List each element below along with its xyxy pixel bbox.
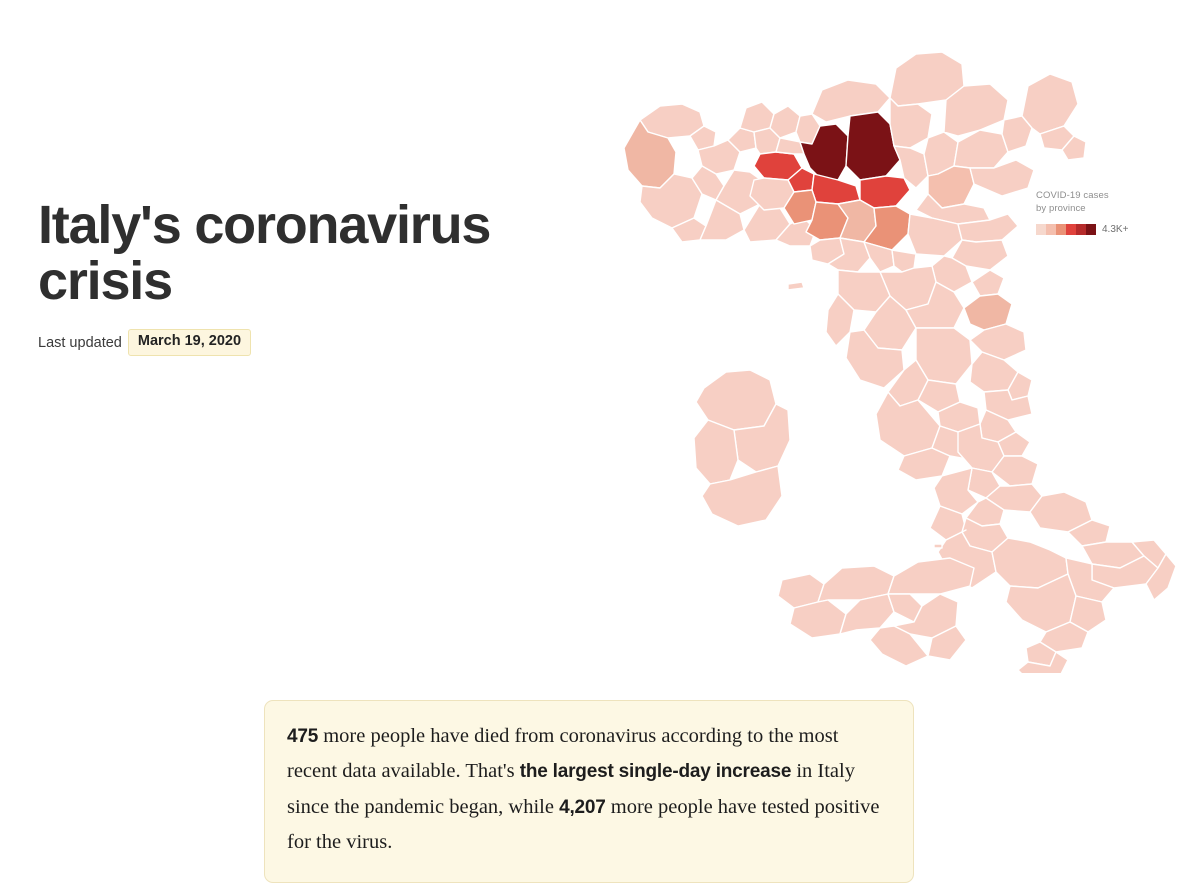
legend-swatch-1	[1036, 224, 1046, 235]
summary-callout-box: 475 more people have died from coronavir…	[264, 700, 914, 883]
last-updated-label: Last updated	[38, 335, 122, 351]
province-oristano[interactable]	[694, 420, 738, 484]
legend-max-label: 4.3K+	[1102, 224, 1128, 235]
last-updated-row: Last updated March 19, 2020	[38, 329, 558, 356]
legend-color-scale	[1036, 224, 1096, 235]
italy-map[interactable]	[598, 28, 1179, 673]
province-messina[interactable]	[888, 558, 974, 594]
deaths-count: 475	[287, 726, 318, 747]
province-como[interactable]	[770, 106, 800, 138]
legend-title-line2: by province	[1036, 203, 1176, 216]
legend-title: COVID-19 cases by province	[1036, 190, 1176, 216]
legend-title-line1: COVID-19 cases	[1036, 190, 1176, 203]
province-treviso[interactable]	[954, 130, 1008, 168]
island-elba	[788, 282, 804, 290]
legend-swatch-2	[1046, 224, 1056, 235]
legend-swatch-5	[1076, 224, 1086, 235]
summary-callout-text: 475 more people have died from coronavir…	[287, 719, 887, 860]
province-mantova[interactable]	[860, 176, 910, 208]
legend-swatch-3	[1056, 224, 1066, 235]
legend-swatch-4	[1066, 224, 1076, 235]
callout-emphasis: the largest single-day increase	[520, 761, 792, 782]
legend-scale-row: 4.3K+	[1036, 224, 1176, 235]
province-udine[interactable]	[1022, 74, 1078, 134]
headline-block: Italy's coronavirus crisis Last updated …	[38, 198, 558, 356]
italy-map-svg[interactable]	[598, 28, 1179, 673]
cases-count: 4,207	[559, 797, 606, 818]
infographic-page: Italy's coronavirus crisis Last updated …	[0, 0, 1179, 883]
map-legend: COVID-19 cases by province 4.3K+	[1036, 190, 1176, 235]
province-rimini[interactable]	[972, 270, 1004, 296]
province-ancona[interactable]	[970, 324, 1026, 360]
province-trento[interactable]	[890, 98, 932, 148]
page-title: Italy's coronavirus crisis	[38, 198, 498, 309]
island-capri	[934, 544, 942, 548]
province-verbania[interactable]	[740, 102, 774, 132]
last-updated-date-badge: March 19, 2020	[128, 329, 251, 356]
legend-swatch-6	[1086, 224, 1096, 235]
